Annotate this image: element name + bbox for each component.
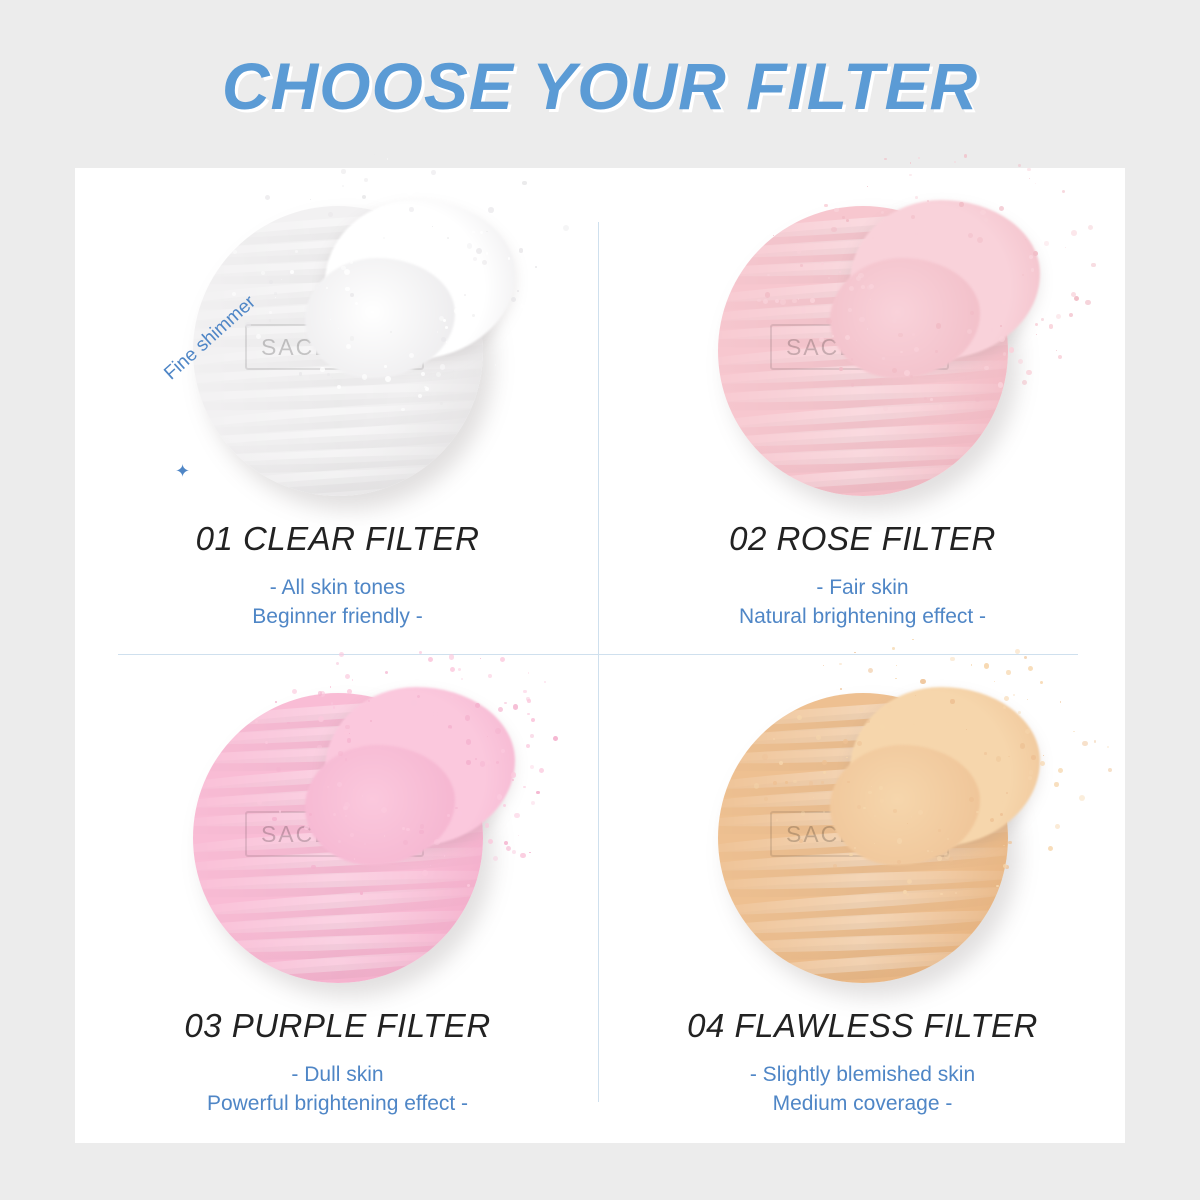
- powder-pan-03: SACE LADY: [193, 693, 483, 983]
- powder-pan-02: SACE LADY: [718, 206, 1008, 496]
- powder-illustration-02: SACE LADY: [600, 168, 1125, 508]
- filter-desc-03-line2: Powerful brightening effect -: [75, 1092, 600, 1116]
- sparkle-icon: ✦: [175, 461, 190, 482]
- powder-pan-04: SACE LADY: [718, 693, 1008, 983]
- product-infographic: CHOOSE YOUR FILTER SACE LADY Fine shimme…: [0, 0, 1200, 1200]
- brand-emboss: SACE LADY: [770, 811, 949, 857]
- powder-illustration-01: SACE LADY: [75, 168, 600, 508]
- filter-desc-01-line2: Beginner friendly -: [75, 605, 600, 629]
- powder-pan-01: SACE LADY: [193, 206, 483, 496]
- filter-card-03[interactable]: SACE LADY 03 PURPLE FILTER - Dull skin P…: [75, 655, 600, 1142]
- filter-desc-04-line2: Medium coverage -: [600, 1092, 1125, 1116]
- filter-card-01[interactable]: SACE LADY Fine shimmer ✦ 01 CLEAR FILTER…: [75, 168, 600, 655]
- filter-title-02: 02 ROSE FILTER: [600, 520, 1125, 558]
- filter-desc-01-line1: - All skin tones: [75, 576, 600, 600]
- brand-emboss: SACE LADY: [245, 811, 424, 857]
- filter-title-03: 03 PURPLE FILTER: [75, 1007, 600, 1045]
- page-title: CHOOSE YOUR FILTER: [0, 48, 1200, 124]
- filter-title-04: 04 FLAWLESS FILTER: [600, 1007, 1125, 1045]
- powder-illustration-04: SACE LADY: [600, 655, 1125, 995]
- filter-desc-02-line1: - Fair skin: [600, 576, 1125, 600]
- brand-emboss: SACE LADY: [770, 324, 949, 370]
- filter-title-01: 01 CLEAR FILTER: [75, 520, 600, 558]
- filter-desc-02-line2: Natural brightening effect -: [600, 605, 1125, 629]
- filter-desc-04-line1: - Slightly blemished skin: [600, 1063, 1125, 1087]
- filter-card-02[interactable]: SACE LADY 02 ROSE FILTER - Fair skin Nat…: [600, 168, 1125, 655]
- filter-desc-03-line1: - Dull skin: [75, 1063, 600, 1087]
- filter-card-04[interactable]: SACE LADY 04 FLAWLESS FILTER - Slightly …: [600, 655, 1125, 1142]
- powder-illustration-03: SACE LADY: [75, 655, 600, 995]
- brand-emboss: SACE LADY: [245, 324, 424, 370]
